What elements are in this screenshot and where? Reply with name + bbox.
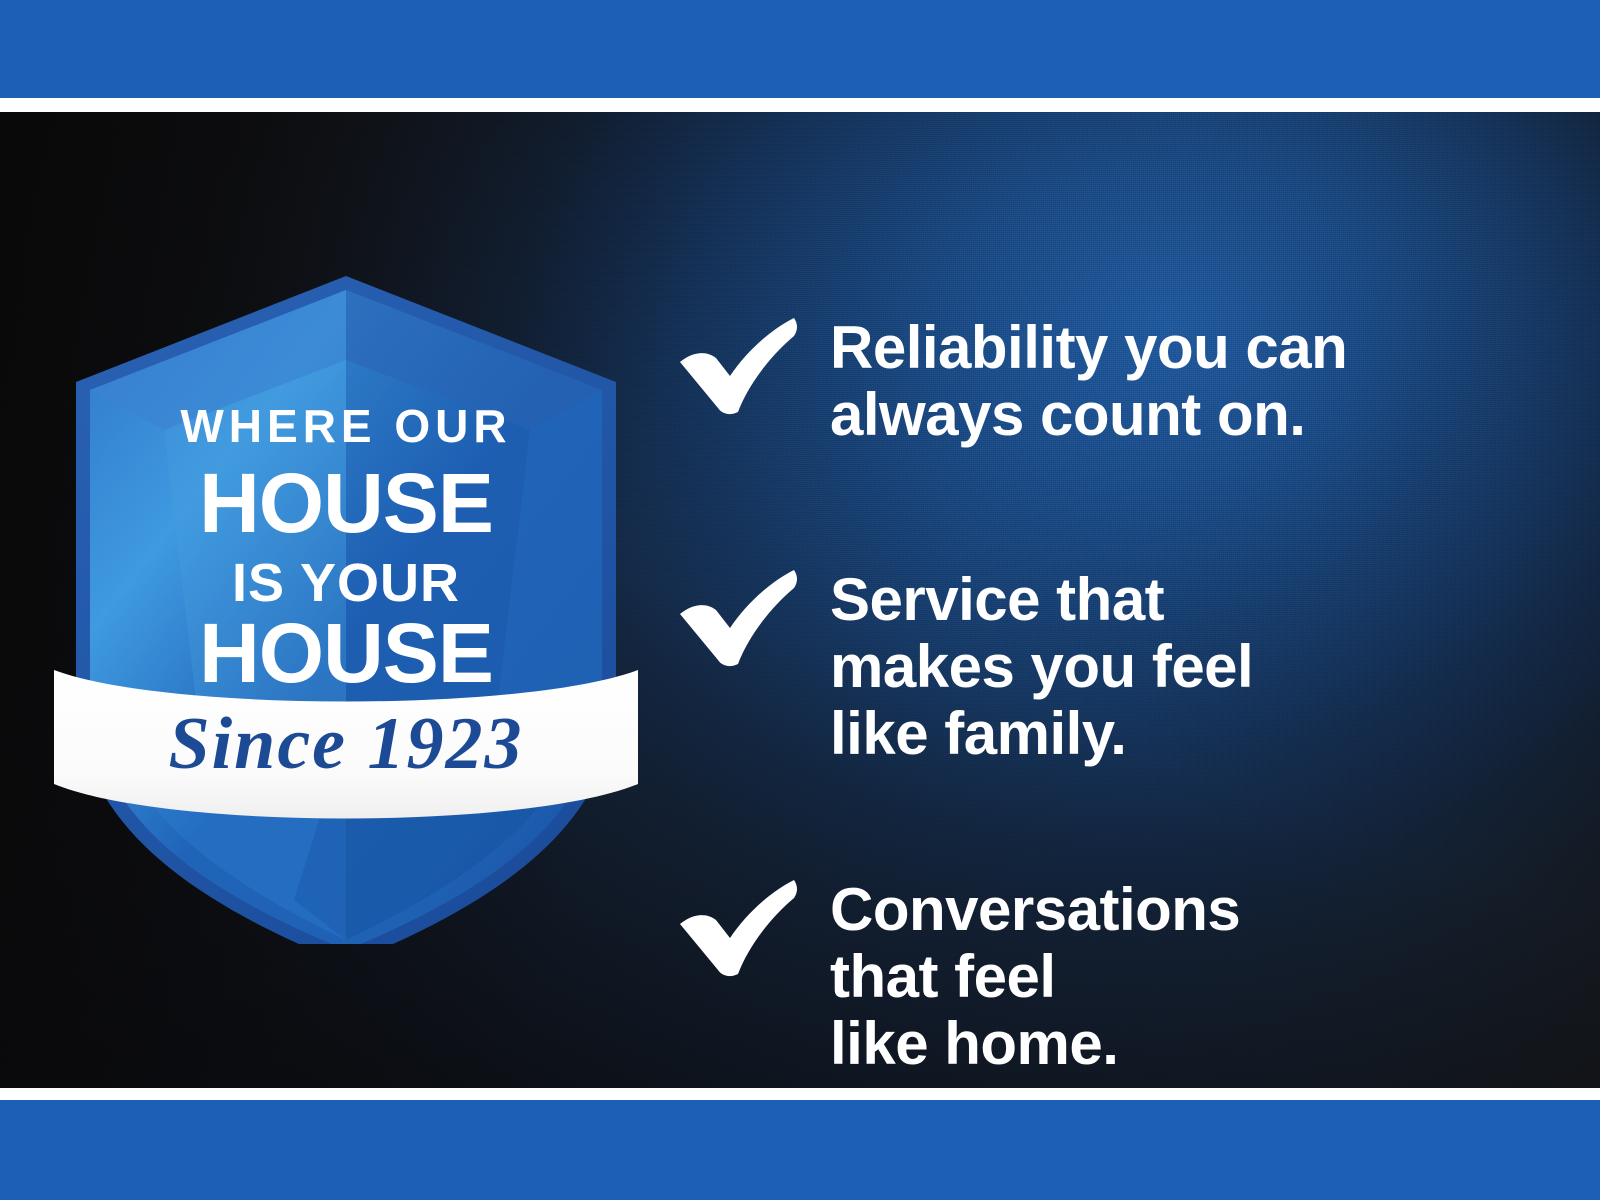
- company-badge: WHERE OUR HOUSE IS YOUR HOUSE Since 1923: [46, 264, 646, 944]
- badge-line-1: WHERE OUR: [180, 400, 511, 452]
- list-item: Service that makes you feel like family.: [672, 562, 1532, 768]
- checkmark-icon: [672, 310, 804, 422]
- main-content-stage: WHERE OUR HOUSE IS YOUR HOUSE Since 1923: [0, 112, 1600, 1088]
- list-item: Conversations that feel like home.: [672, 872, 1532, 1078]
- checkmark-icon: [672, 562, 804, 674]
- checkmark-icon: [672, 872, 804, 984]
- badge-line-4: HOUSE: [199, 606, 493, 700]
- ribbon-text: Since 1923: [168, 703, 523, 785]
- list-item: Reliability you can always count on.: [672, 310, 1532, 448]
- benefit-text: Service that makes you feel like family.: [830, 562, 1532, 768]
- badge-line-3: IS YOUR: [232, 553, 460, 613]
- bottom-brand-bar: [0, 1100, 1600, 1200]
- promotional-graphic: WHERE OUR HOUSE IS YOUR HOUSE Since 1923: [0, 0, 1600, 1200]
- badge-line-2: HOUSE: [199, 456, 493, 550]
- benefit-text: Conversations that feel like home.: [830, 872, 1532, 1078]
- benefit-list: Reliability you can always count on. Ser…: [672, 262, 1532, 1088]
- top-brand-bar: [0, 0, 1600, 98]
- benefit-text: Reliability you can always count on.: [830, 310, 1532, 448]
